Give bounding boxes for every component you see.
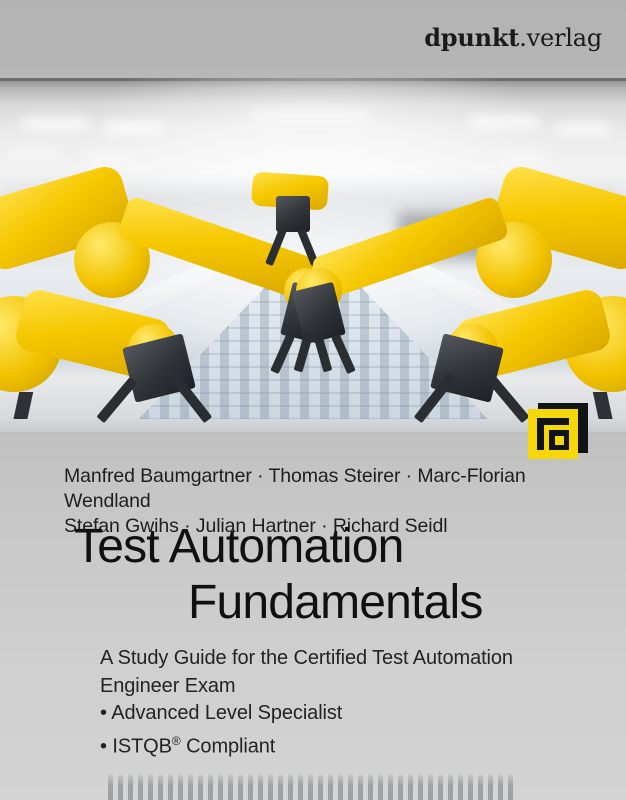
ceiling-light-icon [104,122,164,132]
brand-logo-icon [528,403,588,463]
ceiling-light-icon [470,116,540,127]
author-line-1: Manfred Baumgartner · Thomas Steirer · M… [64,464,609,514]
subtitle-line-1: A Study Guide for the Certified Test Aut… [100,645,580,673]
subtitle-bullet-2: • ISTQB® Compliant [100,728,580,761]
book-title-line-2: Fundamentals [74,575,619,631]
ceiling-light-icon [500,152,548,160]
subtitle-bullet-2-prefix: • ISTQB [100,735,172,757]
ceiling-light-icon [86,154,132,162]
ceiling-light-icon [8,148,60,157]
ceiling-light-icon [556,124,610,134]
robot-gripper-center [276,196,310,232]
ceiling-light-icon [22,118,88,129]
subtitle-bullet-2-suffix: Compliant [181,735,276,757]
book-cover: dpunkt.verlag [0,0,626,800]
publisher-name-light: .verlag [519,24,602,52]
registered-trademark-icon: ® [172,734,181,748]
book-title: Test Automation Fundamentals [74,519,619,631]
subtitle-line-2: Engineer Exam [100,673,580,701]
ceiling-light-icon [250,108,370,124]
cover-photo [0,78,626,432]
brand-logo-spiral-center [555,436,564,445]
decorative-barcode [108,773,518,800]
publisher-logo: dpunkt.verlag [424,26,602,50]
book-subtitle: A Study Guide for the Certified Test Aut… [100,645,580,761]
subtitle-bullet-1: • Advanced Level Specialist [100,700,580,728]
barcode-fade-overlay [108,773,518,800]
publisher-name-strong: dpunkt [424,23,519,52]
book-title-line-1: Test Automation [74,520,404,573]
